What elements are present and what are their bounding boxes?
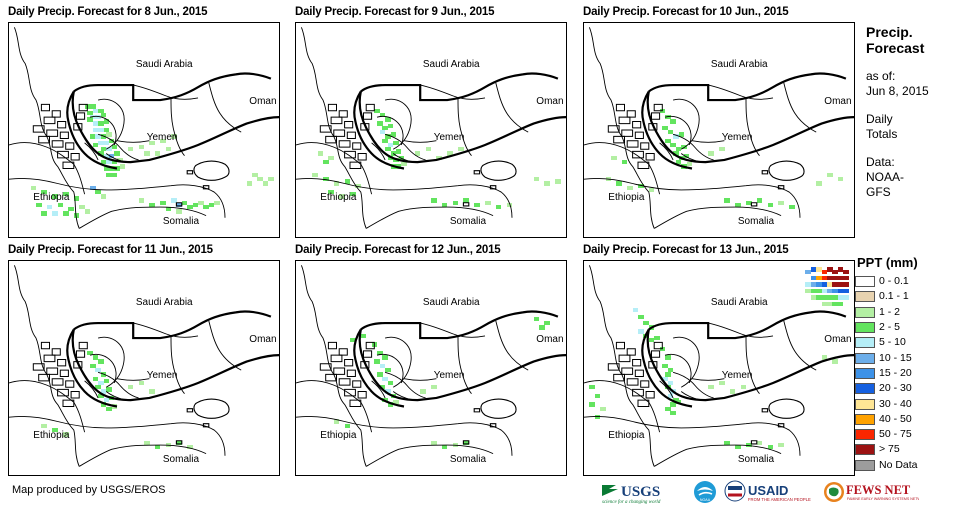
- highland-shading: [328, 342, 336, 348]
- admin-boundary: [496, 83, 528, 132]
- legend-entry: 40 - 50: [855, 412, 967, 427]
- country-label-yemen: Yemen: [147, 132, 178, 143]
- info-sidebar: Precip. Forecast as of: Jun 8, 2015 Dail…: [866, 24, 967, 200]
- legend-entry: 0 - 0.1: [855, 274, 967, 289]
- legend-swatch: [855, 353, 875, 364]
- legend-entry: 1 - 2: [855, 305, 967, 320]
- highland-shading: [635, 132, 643, 138]
- country-label-yemen: Yemen: [722, 370, 753, 381]
- highland-shading: [52, 141, 63, 147]
- country-label-oman: Oman: [824, 334, 851, 345]
- sidebar-title: Precip. Forecast: [866, 24, 967, 56]
- highland-shading: [627, 111, 635, 117]
- country-label-somalia: Somalia: [163, 454, 199, 465]
- svg-text:science for a changing world: science for a changing world: [602, 500, 661, 505]
- highland-shading: [334, 130, 345, 136]
- as-of-date: Jun 8, 2015: [866, 84, 967, 99]
- island-outline: [176, 203, 181, 206]
- highland-shading: [79, 342, 87, 348]
- highland-shading: [347, 370, 355, 376]
- legend-label: 0 - 0.1: [879, 276, 909, 287]
- highland-shading: [60, 370, 68, 376]
- highland-shading: [627, 379, 638, 385]
- totals-line1: Daily: [866, 112, 967, 127]
- national-boundary: [649, 312, 846, 339]
- legend-swatch: [855, 291, 875, 302]
- svg-text:USAID: USAID: [748, 483, 788, 498]
- island-outline: [751, 441, 756, 444]
- highland-shading: [635, 370, 643, 376]
- admin-boundary: [746, 98, 760, 156]
- country-label-saudi-arabia: Saudi Arabia: [423, 59, 480, 70]
- map-credit: Map produced by USGS/EROS: [12, 484, 165, 496]
- national-boundary: [74, 74, 271, 101]
- admin-boundary: [692, 141, 724, 143]
- legend-label: 30 - 40: [879, 399, 912, 410]
- island-outline: [490, 186, 495, 189]
- highland-shading: [353, 143, 361, 149]
- country-label-ethiopia: Ethiopia: [33, 192, 69, 203]
- highland-shading: [334, 368, 345, 374]
- forecast-panel-3: Daily Precip. Forecast for 10 Jun., 2015…: [583, 6, 789, 19]
- highland-shading: [345, 359, 353, 365]
- national-boundary: [74, 312, 271, 339]
- legend-entry: 5 - 10: [855, 335, 967, 350]
- svg-text:NOAA: NOAA: [700, 498, 711, 502]
- legend-entry: 2 - 5: [855, 320, 967, 335]
- admin-boundary: [404, 379, 436, 381]
- highland-shading: [339, 111, 347, 117]
- legend-label: No Data: [879, 460, 918, 471]
- admin-boundary: [458, 98, 472, 156]
- highland-shading: [633, 389, 644, 395]
- legend-swatch: [855, 276, 875, 287]
- country-label-ethiopia: Ethiopia: [608, 192, 644, 203]
- country-label-saudi-arabia: Saudi Arabia: [711, 59, 768, 70]
- country-outlines: [9, 261, 279, 475]
- highland-shading: [627, 349, 635, 355]
- admin-boundary: [98, 99, 124, 149]
- data-source-block: Data: NOAA- GFS: [866, 155, 967, 200]
- highland-shading: [345, 151, 356, 157]
- highland-shading: [652, 113, 660, 119]
- data-label: Data:: [866, 155, 967, 170]
- panel-title: Daily Precip. Forecast for 11 Jun., 2015: [8, 244, 213, 257]
- highland-shading: [364, 351, 372, 357]
- legend-label: 0.1 - 1: [879, 291, 909, 302]
- admin-boundary: [784, 321, 816, 370]
- highland-shading: [358, 154, 366, 160]
- national-boundary: [73, 91, 279, 162]
- legend-label: > 75: [879, 444, 900, 455]
- national-boundary: [360, 329, 566, 400]
- country-label-somalia: Somalia: [738, 454, 774, 465]
- island-outline: [474, 171, 479, 174]
- admin-boundary: [98, 337, 124, 387]
- map-canvas[interactable]: Saudi ArabiaOmanYemenEthiopiaSomalia: [295, 22, 567, 238]
- country-label-oman: Oman: [249, 334, 276, 345]
- legend-entry: 20 - 30: [855, 381, 967, 396]
- national-boundary: [649, 74, 846, 101]
- highland-shading: [71, 392, 79, 398]
- island-outline: [769, 161, 804, 180]
- island-outline: [762, 171, 767, 174]
- as-of-label: as of:: [866, 69, 967, 84]
- admin-boundary: [746, 336, 760, 394]
- country-outlines: [584, 261, 854, 475]
- highland-shading: [339, 141, 350, 147]
- panel-title: Daily Precip. Forecast for 10 Jun., 2015: [583, 6, 789, 19]
- admin-boundary: [117, 379, 149, 381]
- country-label-ethiopia: Ethiopia: [33, 430, 69, 441]
- island-outline: [778, 186, 783, 189]
- admin-boundary: [385, 337, 411, 387]
- country-label-yemen: Yemen: [722, 132, 753, 143]
- admin-boundary: [496, 321, 528, 370]
- highland-shading: [633, 151, 644, 157]
- country-label-yemen: Yemen: [434, 132, 465, 143]
- highland-shading: [52, 379, 63, 385]
- highland-shading: [339, 379, 350, 385]
- island-outline: [769, 399, 804, 418]
- highland-shading: [652, 351, 660, 357]
- highland-shading: [58, 359, 66, 365]
- island-outline: [481, 399, 516, 418]
- highland-shading: [331, 355, 342, 361]
- country-outlines: [296, 261, 566, 475]
- forecast-panel-6: Daily Precip. Forecast for 13 Jun., 2015…: [583, 244, 789, 257]
- map-canvas[interactable]: Saudi ArabiaOmanYemenEthiopiaSomalia: [295, 260, 567, 476]
- country-label-somalia: Somalia: [738, 216, 774, 227]
- admin-boundary: [784, 83, 816, 132]
- highland-shading: [646, 392, 654, 398]
- island-outline: [203, 424, 208, 427]
- legend-swatch: [855, 383, 875, 394]
- highland-shading: [353, 381, 361, 387]
- usaid-logo: USAID FROM THE AMERICAN PEOPLE: [724, 479, 816, 505]
- legend-swatch: [855, 444, 875, 455]
- highland-shading: [619, 355, 630, 361]
- svg-text:FROM THE AMERICAN PEOPLE: FROM THE AMERICAN PEOPLE: [748, 497, 811, 502]
- svg-text:FAMINE EARLY WARNING SYSTEMS N: FAMINE EARLY WARNING SYSTEMS NETWORK: [847, 497, 919, 501]
- legend-entry: 15 - 20: [855, 366, 967, 381]
- highland-shading: [52, 111, 60, 117]
- fewsnet-logo: FEWS NET FAMINE EARLY WARNING SYSTEMS NE…: [823, 479, 919, 505]
- highland-shading: [60, 132, 68, 138]
- highland-shading: [366, 104, 374, 110]
- highland-shading: [47, 368, 58, 374]
- legend-label: 15 - 20: [879, 368, 912, 379]
- island-outline: [474, 409, 479, 412]
- island-outline: [187, 409, 192, 412]
- country-label-oman: Oman: [249, 96, 276, 107]
- national-boundary: [73, 329, 279, 400]
- map-canvas[interactable]: Saudi ArabiaOmanYemenEthiopiaSomalia: [8, 22, 280, 238]
- admin-boundary: [117, 141, 149, 143]
- legend-entry: 10 - 15: [855, 350, 967, 365]
- legend-swatch: [855, 307, 875, 318]
- highland-shading: [633, 121, 641, 127]
- national-boundary: [648, 91, 854, 162]
- as-of-block: as of: Jun 8, 2015: [866, 69, 967, 99]
- legend-label: 2 - 5: [879, 322, 900, 333]
- country-outlines: [296, 23, 566, 237]
- totals-block: Daily Totals: [866, 112, 967, 142]
- usgs-logo: USGS science for a changing world: [600, 479, 686, 505]
- country-label-saudi-arabia: Saudi Arabia: [136, 59, 193, 70]
- data-source-line2: GFS: [866, 185, 967, 200]
- legend-swatch: [855, 460, 875, 471]
- admin-boundary: [209, 321, 241, 370]
- country-label-ethiopia: Ethiopia: [320, 430, 356, 441]
- national-boundary: [361, 74, 558, 101]
- country-label-oman: Oman: [536, 96, 563, 107]
- highland-shading: [646, 154, 654, 160]
- highland-shading: [66, 143, 74, 149]
- legend-swatch: [855, 368, 875, 379]
- highland-shading: [77, 113, 85, 119]
- legend-label: 5 - 10: [879, 337, 906, 348]
- highland-shading: [622, 368, 633, 374]
- country-label-ethiopia: Ethiopia: [608, 430, 644, 441]
- country-outlines: [9, 23, 279, 237]
- legend-label: 50 - 75: [879, 429, 912, 440]
- legend-swatch: [855, 429, 875, 440]
- legend-entry: 30 - 40: [855, 396, 967, 411]
- island-outline: [778, 424, 783, 427]
- data-source-line1: NOAA-: [866, 170, 967, 185]
- highland-shading: [66, 381, 74, 387]
- panel-title: Daily Precip. Forecast for 8 Jun., 2015: [8, 6, 207, 19]
- forecast-panel-2: Daily Precip. Forecast for 9 Jun., 2015S…: [295, 6, 494, 19]
- country-label-somalia: Somalia: [450, 216, 486, 227]
- highland-shading: [633, 359, 641, 365]
- panel-title: Daily Precip. Forecast for 12 Jun., 2015: [295, 244, 501, 257]
- island-outline: [463, 441, 468, 444]
- admin-boundary: [458, 336, 472, 394]
- island-outline: [187, 171, 192, 174]
- highland-shading: [44, 355, 55, 361]
- highland-shading: [364, 113, 372, 119]
- map-canvas[interactable]: Saudi ArabiaOmanYemenEthiopiaSomalia: [583, 260, 855, 476]
- highland-shading: [41, 342, 49, 348]
- legend-label: 20 - 30: [879, 383, 912, 394]
- legend-entry: No Data: [855, 458, 967, 473]
- panel-title: Daily Precip. Forecast for 13 Jun., 2015: [583, 244, 789, 257]
- highland-shading: [654, 104, 662, 110]
- sidebar-title-line2: Forecast: [866, 40, 967, 56]
- highland-shading: [58, 389, 69, 395]
- country-label-yemen: Yemen: [434, 370, 465, 381]
- country-label-saudi-arabia: Saudi Arabia: [423, 297, 480, 308]
- country-label-ethiopia: Ethiopia: [320, 192, 356, 203]
- highland-shading: [328, 104, 336, 110]
- national-boundary: [361, 312, 558, 339]
- admin-boundary: [673, 99, 699, 149]
- noaa-logo: NOAA: [693, 479, 717, 505]
- country-label-somalia: Somalia: [163, 216, 199, 227]
- svg-text:FEWS NET: FEWS NET: [846, 483, 911, 497]
- country-label-oman: Oman: [536, 334, 563, 345]
- highland-shading: [339, 349, 347, 355]
- highland-shading: [627, 141, 638, 147]
- legend-swatch: [855, 399, 875, 410]
- highland-shading: [347, 132, 355, 138]
- country-label-yemen: Yemen: [147, 370, 178, 381]
- island-outline: [203, 186, 208, 189]
- highland-shading: [622, 130, 633, 136]
- forecast-panel-5: Daily Precip. Forecast for 12 Jun., 2015…: [295, 244, 501, 257]
- island-outline: [481, 161, 516, 180]
- island-outline: [490, 424, 495, 427]
- legend-swatch: [855, 322, 875, 333]
- island-outline: [194, 399, 229, 418]
- country-outlines: [584, 23, 854, 237]
- admin-boundary: [404, 141, 436, 143]
- island-outline: [194, 161, 229, 180]
- highland-shading: [619, 117, 630, 123]
- island-outline: [762, 409, 767, 412]
- admin-boundary: [385, 99, 411, 149]
- country-label-saudi-arabia: Saudi Arabia: [711, 297, 768, 308]
- admin-boundary: [171, 98, 185, 156]
- island-outline: [751, 203, 756, 206]
- sidebar-title-line1: Precip.: [866, 24, 967, 40]
- highland-shading: [77, 351, 85, 357]
- highland-shading: [47, 130, 58, 136]
- admin-boundary: [171, 336, 185, 394]
- legend-label: 1 - 2: [879, 307, 900, 318]
- admin-boundary: [209, 83, 241, 132]
- highland-shading: [41, 104, 49, 110]
- legend-entry: 50 - 75: [855, 427, 967, 442]
- forecast-panel-1: Daily Precip. Forecast for 8 Jun., 2015S…: [8, 6, 207, 19]
- island-outline: [176, 441, 181, 444]
- national-boundary: [360, 91, 566, 162]
- legend-label: 10 - 15: [879, 353, 912, 364]
- highland-shading: [641, 143, 649, 149]
- island-outline: [463, 203, 468, 206]
- precipitation-legend: PPT (mm) 0 - 0.10.1 - 11 - 22 - 55 - 101…: [855, 255, 967, 473]
- highland-shading: [58, 121, 66, 127]
- svg-text:USGS: USGS: [621, 484, 660, 500]
- country-label-oman: Oman: [824, 96, 851, 107]
- legend-swatch: [855, 414, 875, 425]
- highland-shading: [44, 117, 55, 123]
- agency-logo-row: USGS science for a changing world NOAA U…: [600, 478, 919, 506]
- legend-swatch: [855, 337, 875, 348]
- highland-shading: [345, 121, 353, 127]
- highland-shading: [641, 381, 649, 387]
- highland-shading: [358, 392, 366, 398]
- highland-shading: [654, 342, 662, 348]
- panel-title: Daily Precip. Forecast for 9 Jun., 2015: [295, 6, 494, 19]
- forecast-panel-4: Daily Precip. Forecast for 11 Jun., 2015…: [8, 244, 213, 257]
- legend-entry-list: 0 - 0.10.1 - 11 - 22 - 55 - 1010 - 1515 …: [855, 274, 967, 473]
- legend-title: PPT (mm): [855, 255, 967, 270]
- highland-shading: [79, 104, 87, 110]
- map-canvas[interactable]: Saudi ArabiaOmanYemenEthiopiaSomalia: [8, 260, 280, 476]
- legend-label: 40 - 50: [879, 414, 912, 425]
- admin-boundary: [673, 337, 699, 387]
- highland-shading: [616, 342, 624, 348]
- admin-boundary: [692, 379, 724, 381]
- highland-shading: [52, 349, 60, 355]
- highland-shading: [616, 104, 624, 110]
- highland-shading: [331, 117, 342, 123]
- totals-line2: Totals: [866, 127, 967, 142]
- country-label-saudi-arabia: Saudi Arabia: [136, 297, 193, 308]
- highland-shading: [345, 389, 356, 395]
- highland-shading: [366, 342, 374, 348]
- map-canvas[interactable]: Saudi ArabiaOmanYemenEthiopiaSomalia: [583, 22, 855, 238]
- highland-shading: [58, 151, 69, 157]
- highland-shading: [71, 154, 79, 160]
- legend-entry: 0.1 - 1: [855, 289, 967, 304]
- legend-entry: > 75: [855, 442, 967, 457]
- national-boundary: [648, 329, 854, 400]
- country-label-somalia: Somalia: [450, 454, 486, 465]
